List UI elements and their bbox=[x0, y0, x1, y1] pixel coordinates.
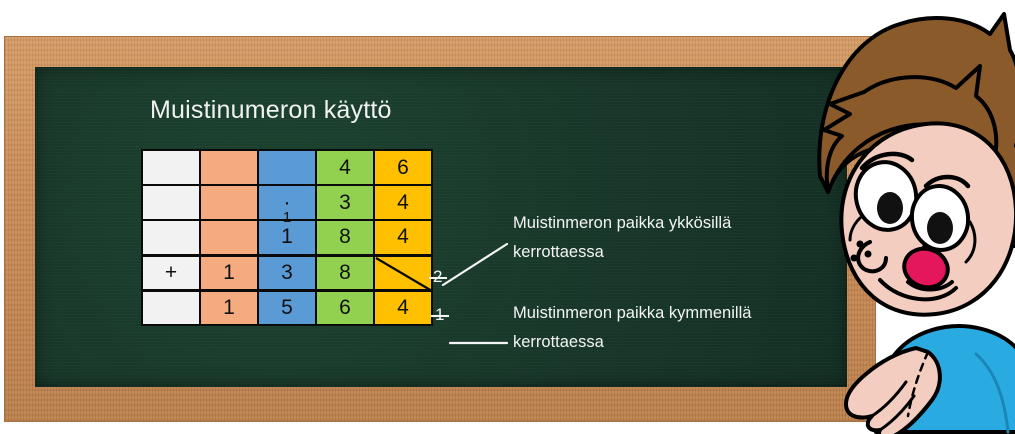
annotation-tens-carry: Muistinmeron paikka kymmenillä kerrottae… bbox=[513, 299, 751, 357]
annotation-ones-carry: Muistinmeron paikka ykkösillä kerrottaes… bbox=[513, 209, 731, 267]
chalkboard-frame: Muistinumeron käyttö 4 6 · 3 bbox=[4, 36, 876, 422]
crossed-out-marker-2: 2 bbox=[433, 267, 442, 287]
cartoon-boy-illustration bbox=[780, 0, 1015, 434]
crossed-out-marker-1: 1 bbox=[435, 305, 444, 325]
annotation-ones-line1: Muistinmeron paikka ykkösillä bbox=[513, 209, 731, 238]
annotation-tens-line1: Muistinmeron paikka kymmenillä bbox=[513, 299, 751, 328]
strikethrough-line-icon bbox=[429, 277, 447, 279]
annotation-tens-line2: kerrottaessa bbox=[513, 328, 751, 357]
slide-canvas: Muistinumeron käyttö 4 6 · 3 bbox=[0, 0, 1015, 434]
annotation-ones-line2: kerrottaessa bbox=[513, 238, 731, 267]
chalkboard-surface: Muistinumeron käyttö 4 6 · 3 bbox=[35, 67, 847, 387]
strikethrough-line-icon bbox=[431, 315, 449, 317]
